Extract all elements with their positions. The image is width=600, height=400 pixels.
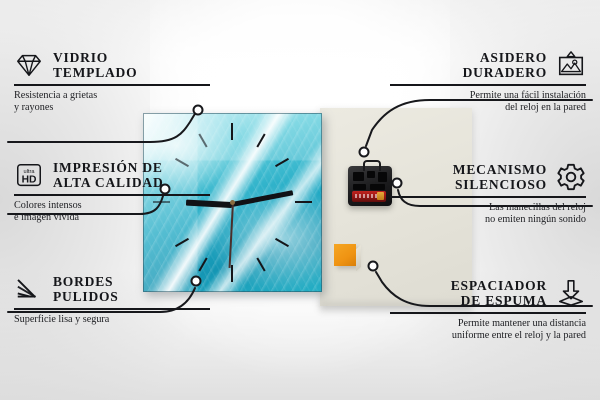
feature-espaciador-de-espuma: ESPACIADOR DE ESPUMA Permite mantener un… — [390, 278, 586, 343]
feature-description: del reloj en la pared — [390, 102, 586, 115]
feature-description: Resistencia a grietas — [14, 90, 210, 103]
diamond-icon — [14, 50, 44, 80]
feature-divider — [14, 308, 210, 310]
diagonal-lines-icon — [14, 274, 44, 304]
feature-title: SILENCIOSO — [453, 177, 547, 192]
feature-description: no emiten ningún sonido — [390, 214, 586, 227]
gear-icon — [556, 162, 586, 192]
feature-description: Las manecillas del reloj — [390, 202, 586, 215]
ultra-hd-badge-bottom-text: HD — [22, 175, 37, 186]
feature-title: DE ESPUMA — [451, 293, 547, 308]
infographic-canvas: VIDRIO TEMPLADO Resistencia a grietas y … — [0, 0, 600, 400]
feature-title: ASIDERO — [463, 50, 547, 65]
feature-description: y rayones — [14, 102, 210, 115]
feature-title: PULIDOS — [53, 289, 119, 304]
feature-description: Permite mantener una distancia — [390, 318, 586, 331]
feature-divider — [14, 84, 210, 86]
feature-title: ESPACIADOR — [451, 278, 547, 293]
feature-title: BORDES — [53, 274, 119, 289]
feature-description: Colores intensos — [14, 200, 210, 213]
feature-description: uniforme entre el reloj y la pared — [390, 330, 586, 343]
lead-line-vidrio-templado — [8, 112, 196, 142]
feature-divider — [390, 196, 586, 198]
down-arrow-onto-pad-icon — [556, 278, 586, 308]
feature-vidrio-templado: VIDRIO TEMPLADO Resistencia a grietas y … — [14, 50, 210, 115]
feature-title: TEMPLADO — [53, 65, 137, 80]
feature-divider — [390, 84, 586, 86]
feature-mecanismo-silencioso: MECANISMO SILENCIOSO Las manecillas del … — [390, 162, 586, 227]
feature-asidero-duradero: ASIDERO DURADERO Permite una fácil insta… — [390, 50, 586, 115]
feature-impresion-alta-calidad: ultra HD IMPRESIÓN DE ALTA CALIDAD Color… — [14, 160, 210, 225]
connector-dot-asidero — [360, 148, 369, 157]
feature-description: Superficie lisa y segura — [14, 314, 210, 327]
feature-description: Permite una fácil instalación — [390, 90, 586, 103]
feature-title: VIDRIO — [53, 50, 137, 65]
hanging-picture-frame-icon — [556, 50, 586, 80]
connector-dot-espaciador — [369, 262, 378, 271]
feature-description: e imagen vívida — [14, 212, 210, 225]
feature-divider — [390, 312, 586, 314]
feature-title: IMPRESIÓN DE — [53, 160, 164, 175]
feature-bordes-pulidos: BORDES PULIDOS Superficie lisa y segura — [14, 274, 210, 326]
feature-divider — [14, 194, 210, 196]
feature-title: DURADERO — [463, 65, 547, 80]
feature-title: MECANISMO — [453, 162, 547, 177]
ultra-hd-badge-icon: ultra HD — [14, 160, 44, 190]
feature-title: ALTA CALIDAD — [53, 175, 164, 190]
